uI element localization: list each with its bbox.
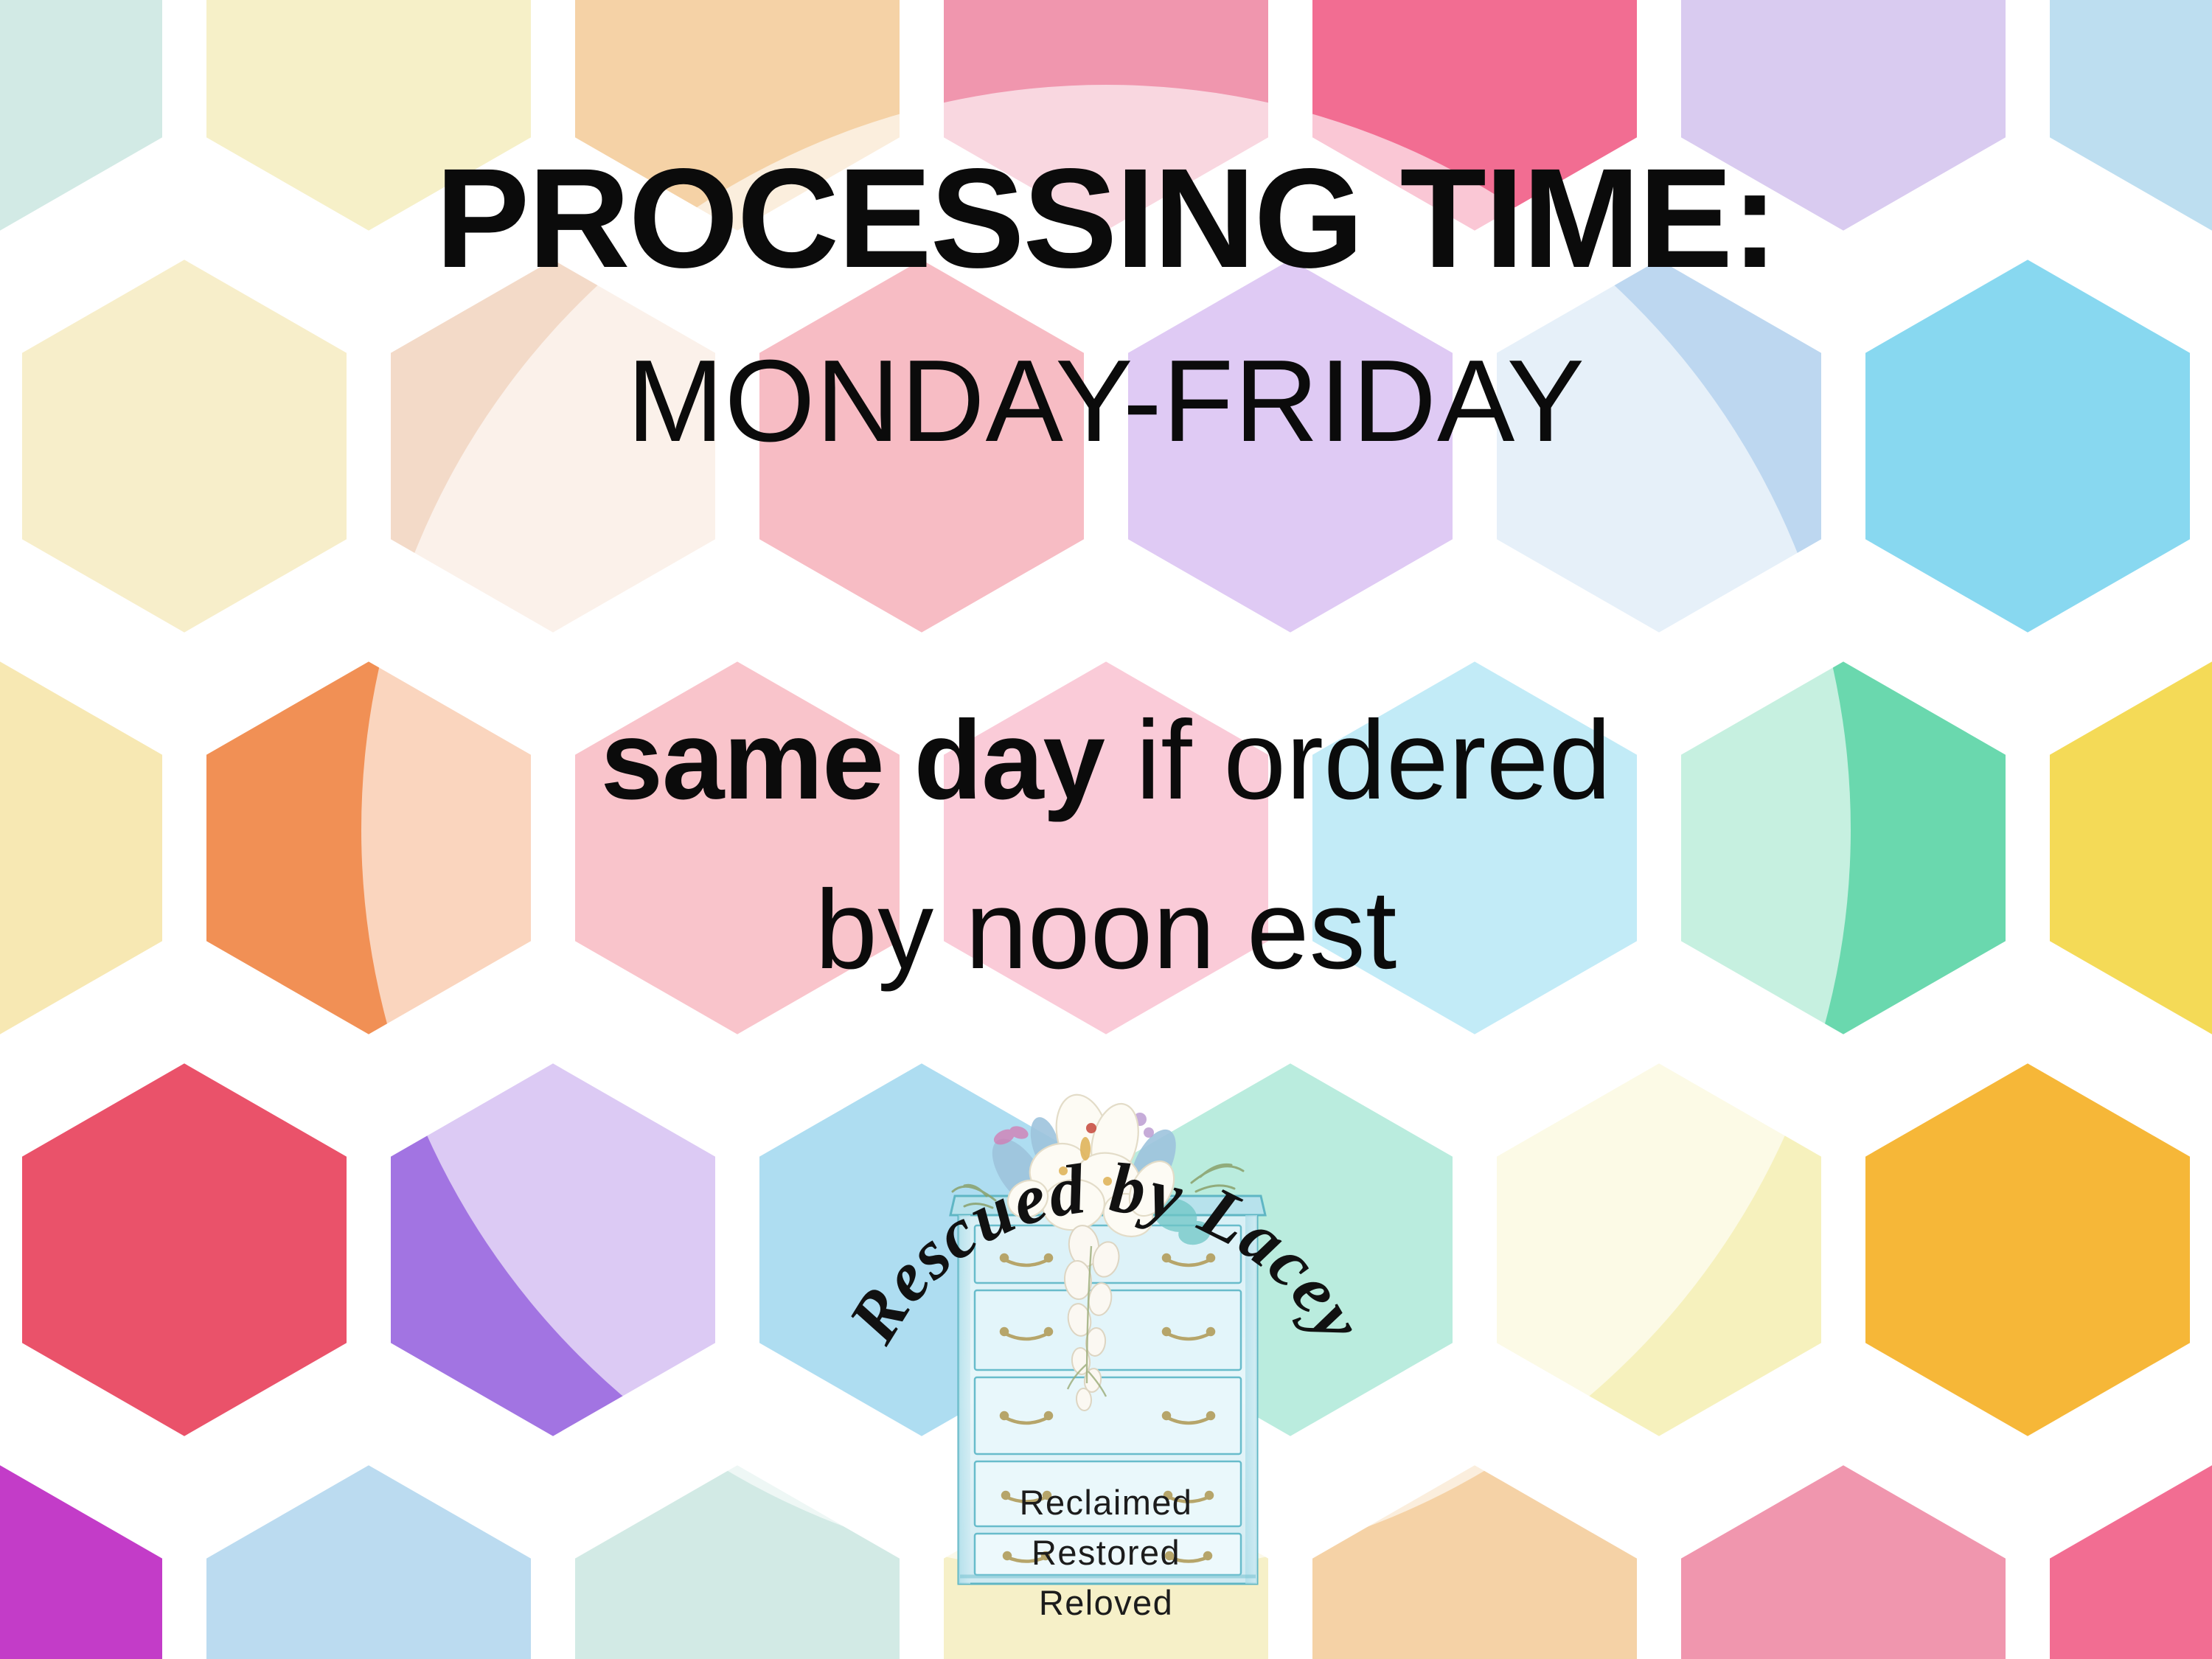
page-title: PROCESSING TIME: (0, 147, 2212, 289)
tagline-line-3: Reloved (0, 1582, 2212, 1623)
poster-canvas: PROCESSING TIME: MONDAY-FRIDAY same day … (0, 0, 2212, 1659)
promise-rest: if ordered (1105, 698, 1612, 823)
tagline-line-2: Restored (0, 1532, 2212, 1573)
promise-line-2: by noon est (0, 874, 2212, 986)
tagline-line-1: Reclaimed (0, 1482, 2212, 1523)
promise-emphasis: same day (601, 698, 1105, 823)
subtitle-days: MONDAY-FRIDAY (0, 343, 2212, 459)
promise-line-1: same day if ordered (0, 704, 2212, 816)
